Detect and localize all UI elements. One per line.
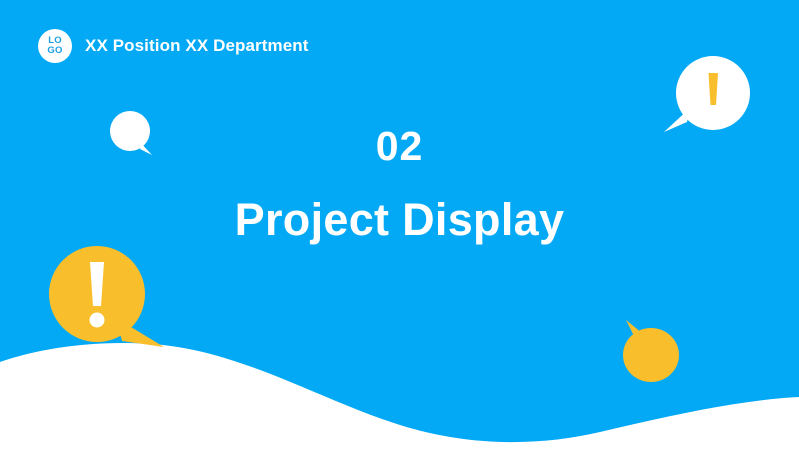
section-title: Project Display	[0, 197, 799, 242]
title-block: 02 Project Display	[0, 126, 799, 242]
logo-line-2: GO	[47, 46, 62, 56]
logo: LO GO	[38, 29, 72, 63]
presentation-slide: LO GO XX Position XX Department 02 Proje…	[0, 0, 799, 450]
speech-bubble-yellow-exclamation-icon	[46, 246, 170, 356]
speech-bubble-small-yellow-icon	[618, 318, 682, 386]
section-number: 02	[0, 126, 799, 167]
slide-header: LO GO XX Position XX Department	[38, 29, 309, 63]
header-title: XX Position XX Department	[85, 36, 309, 56]
